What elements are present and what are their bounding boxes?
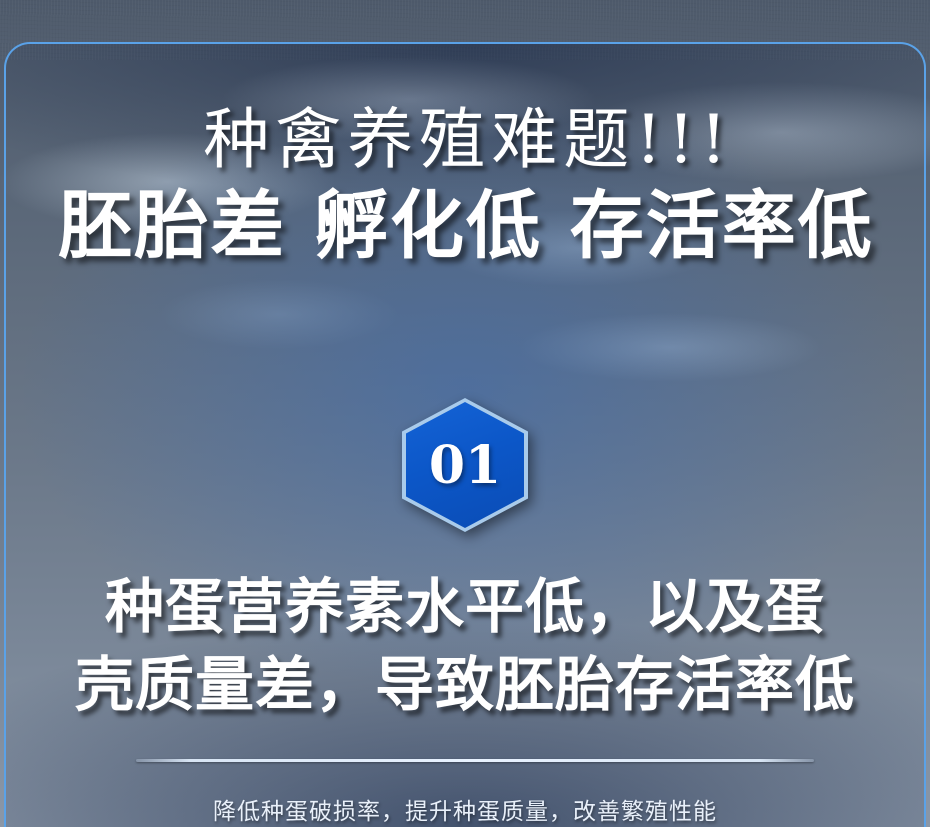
promo-banner-root: 种禽养殖难题!!! 胚胎差 孵化低 存活率低 01 种蛋营养素水平低，以及蛋 壳… [0,0,930,827]
title-line-1: 种禽养殖难题!!! [6,106,924,173]
heading-block: 种禽养殖难题!!! 胚胎差 孵化低 存活率低 [6,106,924,265]
title-line-2: 胚胎差 孵化低 存活率低 [6,189,924,264]
horizontal-divider [136,759,814,762]
hexagon-number-label: 01 [429,440,501,492]
statement-line-1: 种蛋营养素水平低，以及蛋 [6,568,924,646]
blue-content-panel: 种禽养殖难题!!! 胚胎差 孵化低 存活率低 01 种蛋营养素水平低，以及蛋 壳… [4,42,926,827]
step-number-hexagon-badge: 01 [402,398,528,532]
statement-block: 种蛋营养素水平低，以及蛋 壳质量差，导致胚胎存活率低 [6,568,924,724]
caption-text: 降低种蛋破损率，提升种蛋质量，改善繁殖性能 [6,792,924,826]
statement-line-2: 壳质量差，导致胚胎存活率低 [6,646,924,724]
panel-content: 种禽养殖难题!!! 胚胎差 孵化低 存活率低 01 种蛋营养素水平低，以及蛋 壳… [6,44,924,827]
